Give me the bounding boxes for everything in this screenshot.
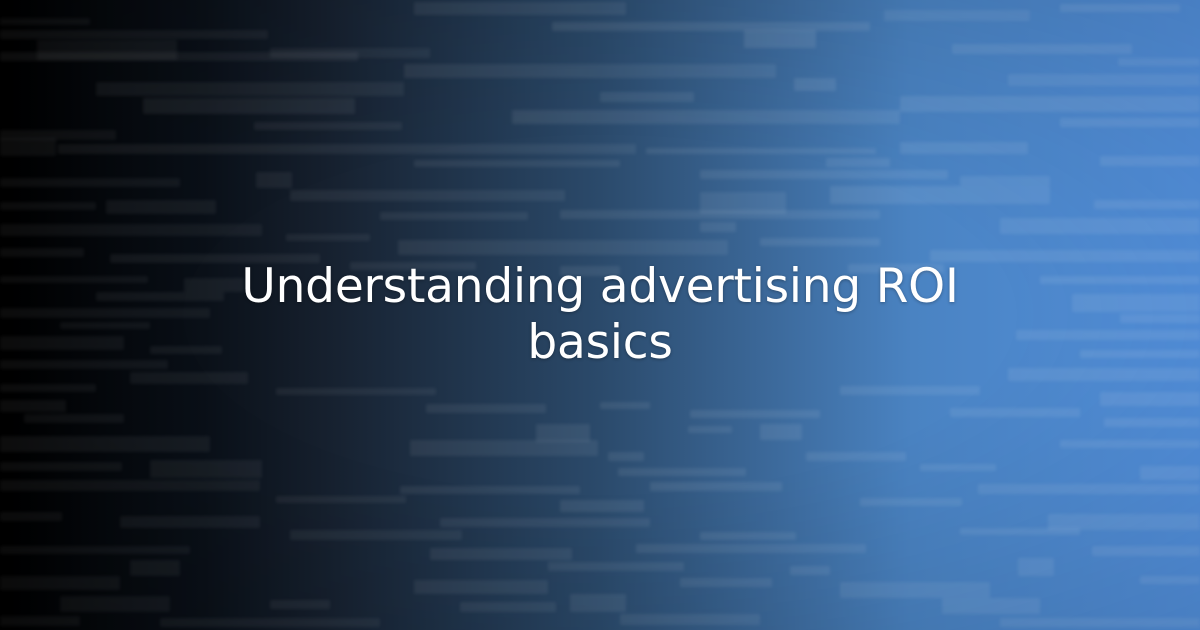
title-container: Understanding advertising ROI basics (0, 0, 1200, 630)
page-title: Understanding advertising ROI basics (220, 259, 980, 371)
social-share-card: Understanding advertising ROI basics (0, 0, 1200, 630)
